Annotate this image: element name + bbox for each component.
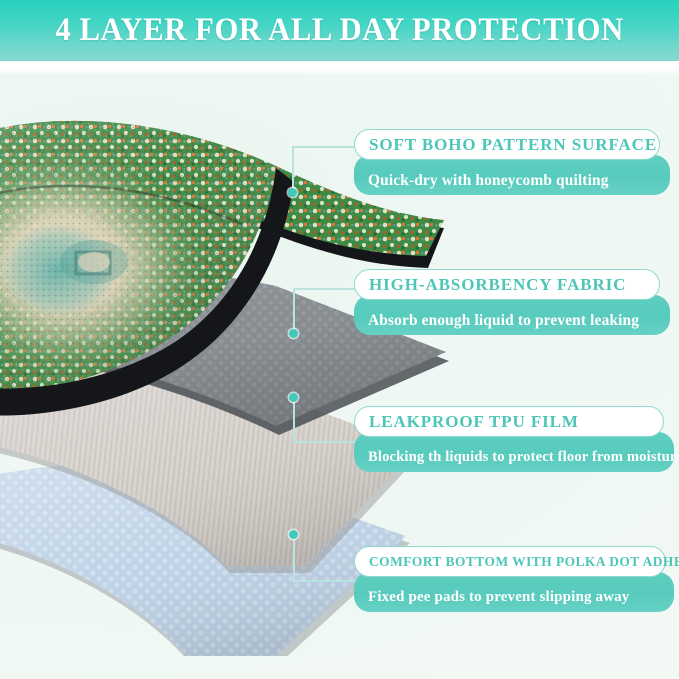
callout-leakproof-tpu-film: Blocking th liquids to protect floor fro…: [354, 406, 674, 478]
callout-title-1: SOFT BOHO PATTERN SURFACE: [369, 136, 657, 153]
connector-dot-1: [288, 188, 297, 197]
connector-line-4: [289, 538, 359, 584]
connector-line-1: [288, 146, 358, 198]
callout-title-4: COMFORT BOTTOM WITH POLKA DOT ADHESIVE: [369, 555, 679, 568]
callout-subtitle-box-1: Quick-dry with honeycomb quilting: [354, 155, 670, 195]
callout-title-3: LEAKPROOF TPU FILM: [369, 413, 579, 430]
connector-dot-4: [289, 530, 298, 539]
callout-title-box-1: SOFT BOHO PATTERN SURFACE: [354, 129, 660, 160]
header-underline-strip: [0, 60, 679, 74]
callout-subtitle-box-3: Blocking th liquids to protect floor fro…: [354, 432, 674, 472]
callout-subtitle-2: Absorb enough liquid to prevent leaking: [368, 313, 639, 328]
callout-title-2: HIGH-ABSORBENCY FABRIC: [369, 276, 626, 293]
connector-dot-3: [289, 393, 298, 402]
callout-title-box-3: LEAKPROOF TPU FILM: [354, 406, 664, 437]
callout-subtitle-box-4: Fixed pee pads to prevent slipping away: [354, 572, 674, 612]
page-title: 4 LAYER FOR ALL DAY PROTECTION: [55, 14, 623, 47]
header-banner: 4 LAYER FOR ALL DAY PROTECTION: [0, 0, 679, 61]
callout-subtitle-3: Blocking th liquids to protect floor fro…: [368, 450, 679, 465]
connector-line-3: [289, 401, 359, 445]
connector-line-2: [289, 288, 359, 340]
callout-subtitle-4: Fixed pee pads to prevent slipping away: [368, 590, 629, 605]
callout-high-absorbency-fabric: Absorb enough liquid to prevent leaking …: [354, 269, 670, 341]
callout-soft-boho-pattern-surface: Quick-dry with honeycomb quilting SOFT B…: [354, 129, 670, 201]
infographic-canvas: 4 LAYER FOR ALL DAY PROTECTION: [0, 0, 679, 679]
callout-title-box-2: HIGH-ABSORBENCY FABRIC: [354, 269, 660, 300]
callout-subtitle-box-2: Absorb enough liquid to prevent leaking: [354, 295, 670, 335]
rug-medallion-motif: [60, 240, 128, 284]
callout-comfort-bottom-polka-dot-adhesive: Fixed pee pads to prevent slipping away …: [354, 546, 674, 618]
callout-title-box-4: COMFORT BOTTOM WITH POLKA DOT ADHESIVE: [354, 546, 666, 577]
connector-dot-2: [289, 329, 298, 338]
callout-subtitle-1: Quick-dry with honeycomb quilting: [368, 173, 609, 188]
